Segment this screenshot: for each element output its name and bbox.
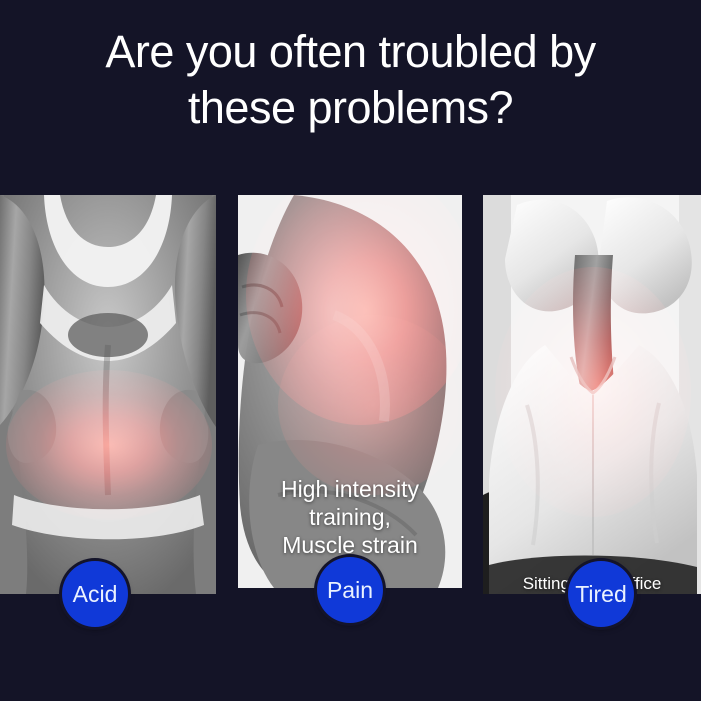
photo-shoulder-grip bbox=[238, 195, 462, 588]
badge-tired[interactable]: Tired bbox=[568, 561, 634, 627]
photo-office-neck-strain bbox=[483, 195, 701, 594]
badge-acid-label: Acid bbox=[73, 583, 118, 606]
badge-tired-label: Tired bbox=[575, 583, 627, 606]
page-title: Are you often troubled by these problems… bbox=[0, 24, 701, 136]
badge-acid[interactable]: Acid bbox=[62, 561, 128, 627]
panel-acid: Muscle soreness after exercise bbox=[0, 195, 216, 594]
photo-woman-back bbox=[0, 195, 216, 594]
panel-pain: High intensity training, Muscle strain bbox=[238, 195, 462, 588]
badge-pain[interactable]: Pain bbox=[317, 557, 383, 623]
panel-tired: Sitting in the office for a long time, p… bbox=[483, 195, 701, 594]
promotional-poster: Are you often troubled by these problems… bbox=[0, 0, 701, 701]
badge-pain-label: Pain bbox=[327, 579, 373, 602]
